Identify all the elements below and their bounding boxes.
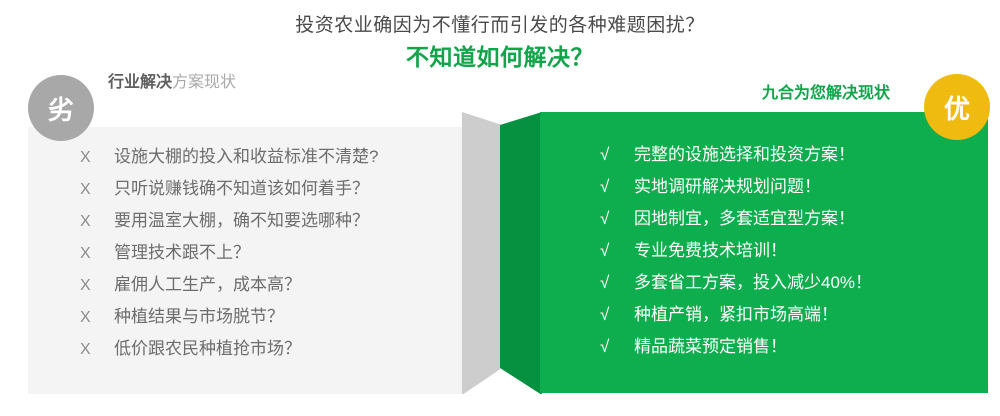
- list-item-label: 因地制宜，多套适宜型方案！: [634, 204, 855, 229]
- list-item-label: 要用温室大棚，确不知要选哪种？: [114, 206, 369, 231]
- check-icon: √: [600, 273, 634, 293]
- list-item: √ 完整的设施选择和投资方案！: [600, 140, 980, 172]
- list-item: X 管理技术跟不上？: [80, 238, 470, 270]
- list-item: X 要用温室大棚，确不知要选哪种？: [80, 206, 470, 238]
- left-heading-emphasis: 行业解决: [108, 74, 172, 91]
- headline-secondary: 不知道如何解决？: [0, 38, 1000, 72]
- list-item-label: 种植产销，紧扣市场高端！: [634, 300, 838, 325]
- list-item-label: 雇佣人工生产，成本高？: [114, 270, 301, 295]
- list-item-label: 种植结果与市场脱节？: [114, 302, 284, 327]
- badge-superior: 优: [924, 74, 990, 140]
- list-item: X 低价跟农民种植抢市场？: [80, 334, 470, 366]
- list-item: X 设施大棚的投入和收益标准不清楚?: [80, 142, 470, 174]
- list-item-label: 完整的设施选择和投资方案！: [634, 140, 855, 165]
- check-icon: √: [600, 145, 634, 165]
- list-item: √ 实地调研解决规划问题！: [600, 172, 980, 204]
- cross-icon: X: [80, 277, 114, 295]
- cross-icon: X: [80, 309, 114, 327]
- right-panel-heading: 九合为您解决现状: [762, 79, 890, 103]
- comparison-infographic: 投资农业确因为不懂行而引发的各种难题困扰？ 不知道如何解决？ 行业解决方案现状 …: [0, 0, 1000, 416]
- list-item-label: 实地调研解决规划问题！: [634, 172, 821, 197]
- check-icon: √: [600, 177, 634, 197]
- list-item: √ 种植产销，紧扣市场高端！: [600, 300, 980, 332]
- left-heading-rest: 方案现状: [172, 74, 236, 91]
- list-item-label: 多套省工方案，投入减少40%！: [634, 268, 872, 293]
- list-item-label: 低价跟农民种植抢市场？: [114, 334, 301, 359]
- list-item: √ 多套省工方案，投入减少40%！: [600, 268, 980, 300]
- cross-icon: X: [80, 341, 114, 359]
- list-item-label: 管理技术跟不上？: [114, 238, 250, 263]
- list-item-label: 精品蔬菜预定销售！: [634, 332, 787, 357]
- cross-icon: X: [80, 181, 114, 199]
- green-fold-face: [500, 112, 542, 394]
- check-icon: √: [600, 241, 634, 261]
- list-item: √ 精品蔬菜预定销售！: [600, 332, 980, 364]
- list-item: X 只听说赚钱确不知道该如何着手？: [80, 174, 470, 206]
- headline-primary: 投资农业确因为不懂行而引发的各种难题困扰？: [0, 10, 1000, 37]
- list-item: √ 专业免费技术培训！: [600, 236, 980, 268]
- solution-list: √ 完整的设施选择和投资方案！ √ 实地调研解决规划问题！ √ 因地制宜，多套适…: [600, 140, 980, 364]
- list-item: X 种植结果与市场脱节？: [80, 302, 470, 334]
- check-icon: √: [600, 337, 634, 357]
- list-item: X 雇佣人工生产，成本高？: [80, 270, 470, 302]
- list-item: √ 因地制宜，多套适宜型方案！: [600, 204, 980, 236]
- list-item-label: 设施大棚的投入和收益标准不清楚?: [114, 142, 378, 167]
- list-item-label: 专业免费技术培训！: [634, 236, 787, 261]
- check-icon: √: [600, 209, 634, 229]
- check-icon: √: [600, 305, 634, 325]
- list-item-label: 只听说赚钱确不知道该如何着手？: [114, 174, 369, 199]
- problem-list: X 设施大棚的投入和收益标准不清楚? X 只听说赚钱确不知道该如何着手？ X 要…: [80, 142, 470, 366]
- cross-icon: X: [80, 213, 114, 231]
- badge-inferior: 劣: [28, 75, 94, 141]
- cross-icon: X: [80, 149, 114, 167]
- cross-icon: X: [80, 245, 114, 263]
- left-panel-heading: 行业解决方案现状: [108, 68, 236, 92]
